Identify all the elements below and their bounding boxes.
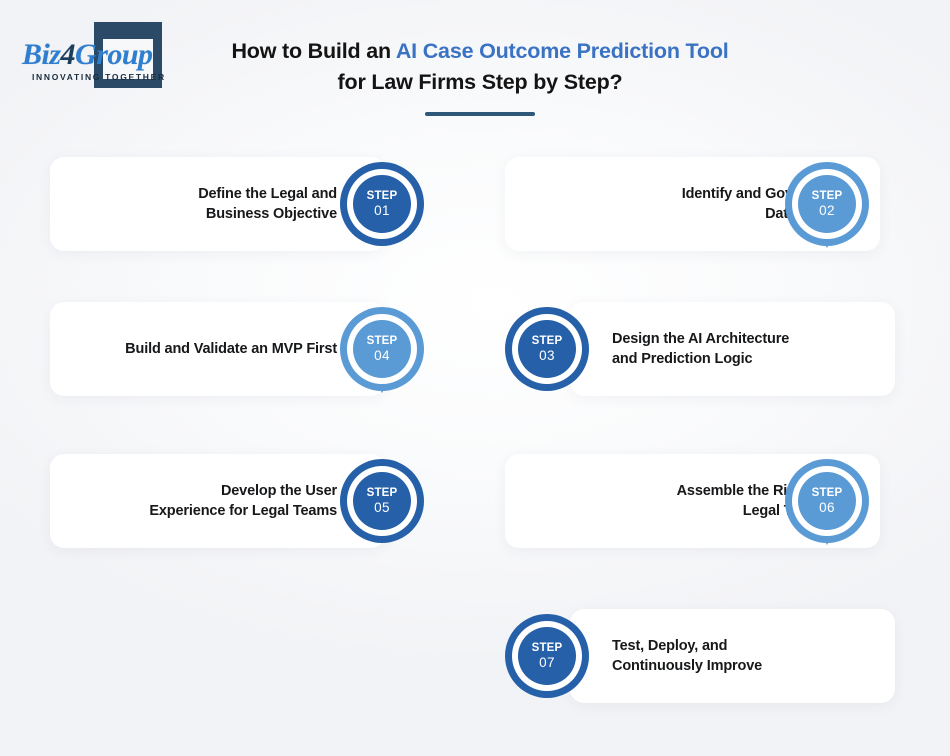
- badge-core: STEP 07: [518, 627, 576, 685]
- step-badge-06[interactable]: STEP 06: [785, 459, 869, 543]
- title-plain-text: How to Build an: [231, 39, 395, 63]
- badge-step-word: STEP: [367, 486, 398, 500]
- badge-step-word: STEP: [532, 334, 563, 348]
- brand-wordmark: Biz4Group: [22, 38, 153, 72]
- step-row-3: Develop the User Experience for Legal Te…: [0, 445, 950, 585]
- brand-tagline: INNOVATING TOGETHER: [32, 72, 166, 82]
- badge-step-word: STEP: [812, 486, 843, 500]
- badge-step-number: 06: [819, 500, 835, 516]
- badge-core: STEP 02: [798, 175, 856, 233]
- title-line-1: How to Build an AI Case Outcome Predicti…: [190, 36, 770, 67]
- brand-logo[interactable]: Biz4Group INNOVATING TOGETHER: [16, 20, 176, 90]
- step-title-04: Build and Validate an MVP First: [50, 339, 385, 359]
- step-row-4: Test, Deploy, and Continuously Improve S…: [0, 600, 950, 740]
- badge-step-word: STEP: [367, 189, 398, 203]
- step-title-07: Test, Deploy, and Continuously Improve: [570, 636, 895, 676]
- step-cell-02: Identify and Govern Legal Data Sources S…: [495, 148, 910, 288]
- badge-step-number: 07: [539, 655, 555, 671]
- page-title: How to Build an AI Case Outcome Predicti…: [190, 36, 770, 98]
- brand-name-part2: 4: [61, 38, 76, 71]
- infographic-root: Biz4Group INNOVATING TOGETHER How to Bui…: [0, 0, 950, 756]
- step-row-2: Build and Validate an MVP First STEP 04 …: [0, 293, 950, 433]
- badge-step-number: 03: [539, 348, 555, 364]
- badge-step-word: STEP: [812, 189, 843, 203]
- step-card-04[interactable]: Build and Validate an MVP First: [50, 302, 385, 396]
- title-line-2: for Law Firms Step by Step?: [190, 67, 770, 98]
- badge-step-number: 02: [819, 203, 835, 219]
- step-card-07[interactable]: Test, Deploy, and Continuously Improve: [570, 609, 895, 703]
- brand-name-part3: Group: [75, 38, 153, 71]
- step-cell-01: Define the Legal and Business Objective …: [40, 148, 470, 288]
- badge-core: STEP 06: [798, 472, 856, 530]
- step-badge-05[interactable]: STEP 05: [340, 459, 424, 543]
- badge-step-word: STEP: [532, 641, 563, 655]
- badge-core: STEP 04: [353, 320, 411, 378]
- step-card-01[interactable]: Define the Legal and Business Objective: [50, 157, 385, 251]
- step-badge-02[interactable]: STEP 02: [785, 162, 869, 246]
- step-badge-07[interactable]: STEP 07: [505, 614, 589, 698]
- badge-core: STEP 03: [518, 320, 576, 378]
- badge-step-number: 04: [374, 348, 390, 364]
- step-cell-03: Design the AI Architecture and Predictio…: [495, 293, 910, 433]
- step-card-05[interactable]: Develop the User Experience for Legal Te…: [50, 454, 385, 548]
- step-cell-06: Assemble the Right AI and Legal Tech Tea…: [495, 445, 910, 585]
- badge-step-number: 01: [374, 203, 390, 219]
- badge-core: STEP 01: [353, 175, 411, 233]
- title-underline-rule: [425, 112, 535, 116]
- step-badge-04[interactable]: STEP 04: [340, 307, 424, 391]
- step-title-03: Design the AI Architecture and Predictio…: [570, 329, 895, 369]
- step-title-05: Develop the User Experience for Legal Te…: [50, 481, 385, 521]
- step-row-1: Define the Legal and Business Objective …: [0, 148, 950, 288]
- step-badge-03[interactable]: STEP 03: [505, 307, 589, 391]
- step-cell-05: Develop the User Experience for Legal Te…: [40, 445, 470, 585]
- step-badge-01[interactable]: STEP 01: [340, 162, 424, 246]
- badge-core: STEP 05: [353, 472, 411, 530]
- step-cell-04: Build and Validate an MVP First STEP 04: [40, 293, 470, 433]
- title-accent-text: AI Case Outcome Prediction Tool: [396, 39, 729, 63]
- header: Biz4Group INNOVATING TOGETHER How to Bui…: [0, 0, 950, 140]
- step-title-01: Define the Legal and Business Objective: [50, 184, 385, 224]
- brand-name-part1: Biz: [22, 38, 61, 71]
- step-cell-07: Test, Deploy, and Continuously Improve S…: [495, 600, 910, 740]
- step-card-03[interactable]: Design the AI Architecture and Predictio…: [570, 302, 895, 396]
- badge-step-word: STEP: [367, 334, 398, 348]
- badge-step-number: 05: [374, 500, 390, 516]
